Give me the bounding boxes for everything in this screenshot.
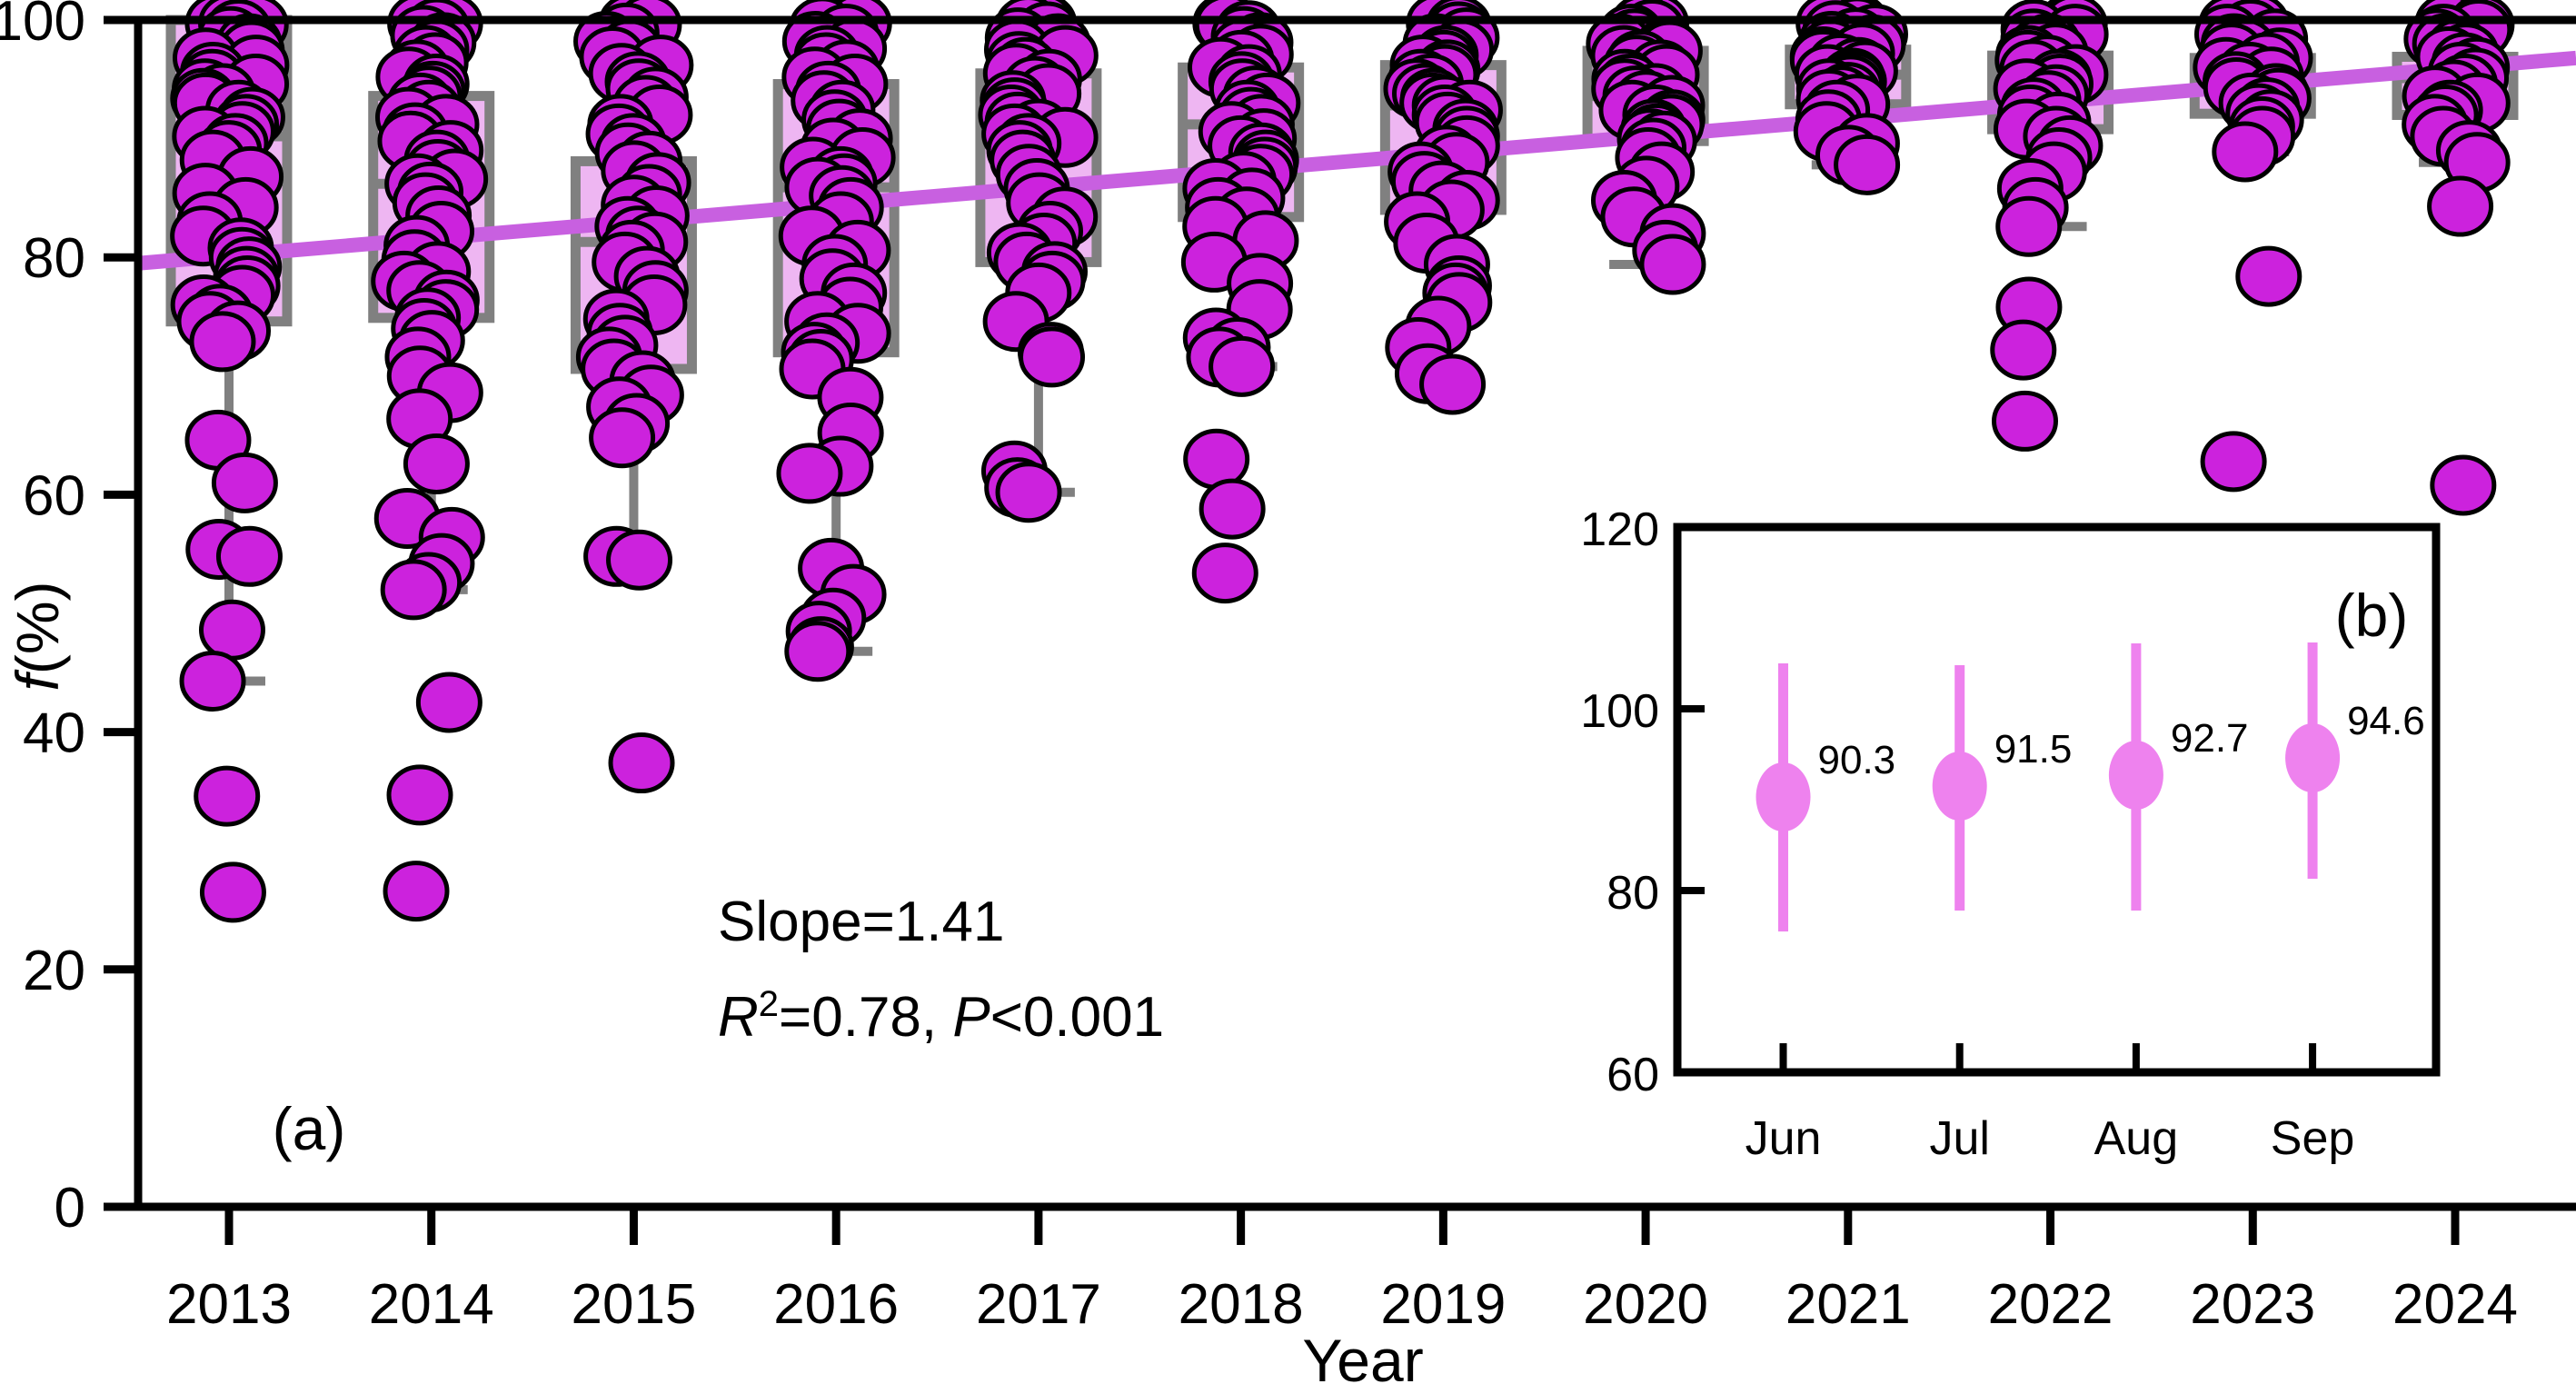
- data-point: [2203, 433, 2264, 490]
- x-tick-label: 2022: [1988, 1273, 2114, 1336]
- data-point: [182, 652, 244, 709]
- data-point: [998, 464, 1059, 521]
- data-point: [592, 410, 653, 466]
- stats-p-value: <0.001: [990, 986, 1164, 1049]
- inset-value-label: 90.3: [1818, 738, 1896, 782]
- data-point: [611, 735, 672, 792]
- inset-y-tick-label: 120: [1580, 503, 1659, 556]
- x-tick-label: 2016: [773, 1273, 899, 1336]
- data-point: [192, 314, 254, 370]
- data-point: [1994, 393, 2055, 449]
- panel-a-tag: (a): [273, 1095, 346, 1162]
- inset-marker: [2109, 741, 2163, 810]
- y-tick-label: 0: [55, 1177, 85, 1240]
- inset-x-tick-label: Jun: [1746, 1112, 1822, 1165]
- inset-marker: [1933, 752, 1987, 821]
- data-point: [1993, 322, 2054, 378]
- x-tick-label: 2013: [166, 1273, 292, 1336]
- boxplot-figure-svg: 020406080100 201320142015201620172018201…: [0, 0, 2576, 1394]
- x-tick-label: 2018: [1179, 1273, 1304, 1336]
- data-point: [1998, 198, 2060, 254]
- inset-value-label: 92.7: [2171, 716, 2249, 761]
- y-tick-label: 60: [23, 464, 85, 527]
- inset-y-tick-label: 100: [1580, 685, 1659, 738]
- data-point: [201, 602, 263, 658]
- x-axis-title: Year: [1302, 1327, 1423, 1394]
- data-point: [214, 454, 275, 511]
- data-point: [2238, 248, 2300, 304]
- x-tick-label: 2020: [1583, 1273, 1708, 1336]
- data-point: [1194, 545, 1256, 602]
- data-point: [1201, 481, 1263, 537]
- data-point: [1186, 431, 1248, 487]
- y-axis-title-rest: (%): [4, 582, 71, 675]
- figure-root: 020406080100 201320142015201620172018201…: [0, 0, 2576, 1394]
- inset-x-tick-label: Jul: [1929, 1112, 1989, 1165]
- x-tick-label: 2014: [369, 1273, 494, 1336]
- data-point: [609, 532, 671, 588]
- panel-b-tag: (b): [2335, 582, 2409, 649]
- data-point: [2214, 124, 2276, 180]
- x-tick-label: 2024: [2392, 1273, 2518, 1336]
- y-tick-label: 40: [23, 702, 85, 765]
- data-point: [1422, 356, 1484, 413]
- inset-panel-b: 6080100120 JunJulAugSep 90.391.592.794.6…: [1580, 503, 2436, 1165]
- inset-marker: [1756, 762, 1811, 831]
- y-axis-title: f(%): [4, 582, 71, 692]
- inset-y-tick-label: 60: [1606, 1049, 1659, 1101]
- inset-x-tick-label: Sep: [2271, 1112, 2355, 1165]
- stats-superscript: 2: [759, 984, 779, 1024]
- y-tick-label: 100: [0, 0, 85, 53]
- x-tick-label: 2017: [976, 1273, 1101, 1336]
- inset-y-tick-label: 80: [1606, 867, 1659, 920]
- data-point: [1836, 136, 1898, 193]
- data-point: [1642, 236, 1704, 293]
- inset-x-tick-label: Aug: [2094, 1112, 2179, 1165]
- data-point: [389, 767, 451, 823]
- data-point: [202, 864, 264, 921]
- data-point: [196, 768, 258, 824]
- data-point: [2430, 178, 2491, 234]
- data-point: [218, 528, 280, 584]
- x-tick-label: 2021: [1785, 1273, 1911, 1336]
- stats-p-symbol: P: [952, 986, 990, 1049]
- stats-rsq-value: =0.78,: [779, 986, 952, 1049]
- data-point: [2432, 457, 2494, 513]
- stats-annotation: R2=0.78, P<0.001: [718, 984, 1164, 1049]
- data-point: [405, 435, 467, 492]
- inset-marker: [2285, 723, 2340, 792]
- data-point: [383, 562, 444, 618]
- inset-value-label: 91.5: [1994, 727, 2073, 772]
- y-tick-label: 20: [23, 940, 85, 1002]
- x-tick-label: 2015: [571, 1273, 696, 1336]
- x-tick-label: 2023: [2190, 1273, 2315, 1336]
- svg-text:f(%): f(%): [4, 582, 71, 692]
- stats-r-symbol: R: [718, 986, 759, 1049]
- data-point: [1021, 329, 1083, 385]
- y-tick-label: 80: [23, 227, 85, 290]
- data-point: [779, 445, 840, 502]
- slope-annotation: Slope=1.41: [718, 891, 1004, 953]
- inset-value-label: 94.6: [2347, 699, 2425, 743]
- data-point: [1211, 338, 1273, 394]
- data-point: [385, 863, 447, 920]
- data-point: [418, 674, 480, 731]
- data-point: [787, 623, 849, 680]
